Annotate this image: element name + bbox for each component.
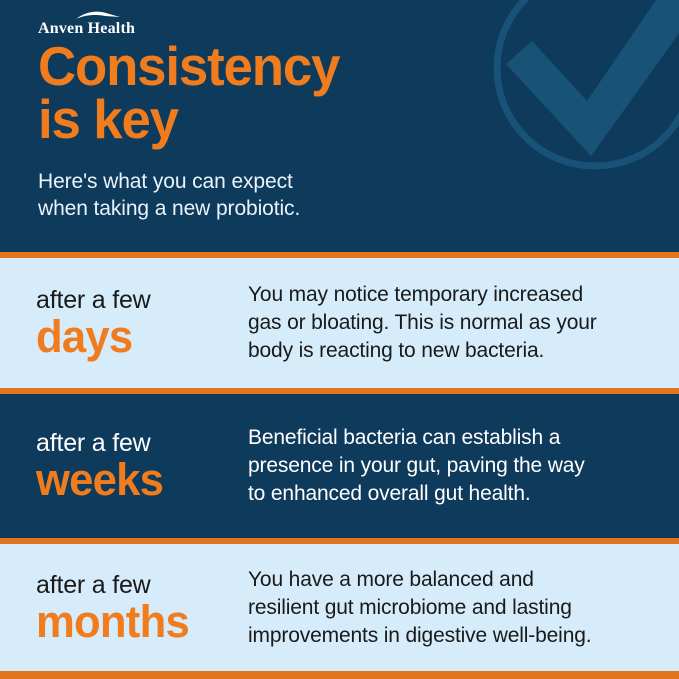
timeline-description-days: You may notice temporary increased gas o… [248,281,679,365]
timeline-period: days [36,314,242,360]
timeline-prefix: after a few [36,571,248,599]
timeline-prefix: after a few [36,429,248,457]
probiotic-timeline-infographic: Anven Health Consistency is key Here's w… [0,0,679,679]
timeline-row-months: after a few months You have a more balan… [0,544,679,671]
timeline-description-months: You have a more balanced and resilient g… [248,566,679,650]
timeline-label-days: after a few days [0,286,248,360]
brand-logo: Anven Health [38,11,135,37]
timeline-row-days: after a few days You may notice temporar… [0,258,679,388]
timeline-prefix: after a few [36,286,248,314]
page-subtitle: Here's what you can expect when taking a… [38,168,300,222]
circle-checkmark-icon [475,0,679,188]
roof-swoosh-icon [75,11,121,20]
timeline-period: months [36,599,242,645]
timeline-label-months: after a few months [0,571,248,645]
page-title: Consistency is key [38,40,339,146]
timeline-row-weeks: after a few weeks Beneficial bacteria ca… [0,394,679,538]
timeline-period: weeks [36,457,242,503]
timeline-label-weeks: after a few weeks [0,429,248,503]
hero-section: Anven Health Consistency is key Here's w… [0,0,679,252]
timeline-description-weeks: Beneficial bacteria can establish a pres… [248,424,679,508]
divider-rule-bottom [0,671,679,679]
